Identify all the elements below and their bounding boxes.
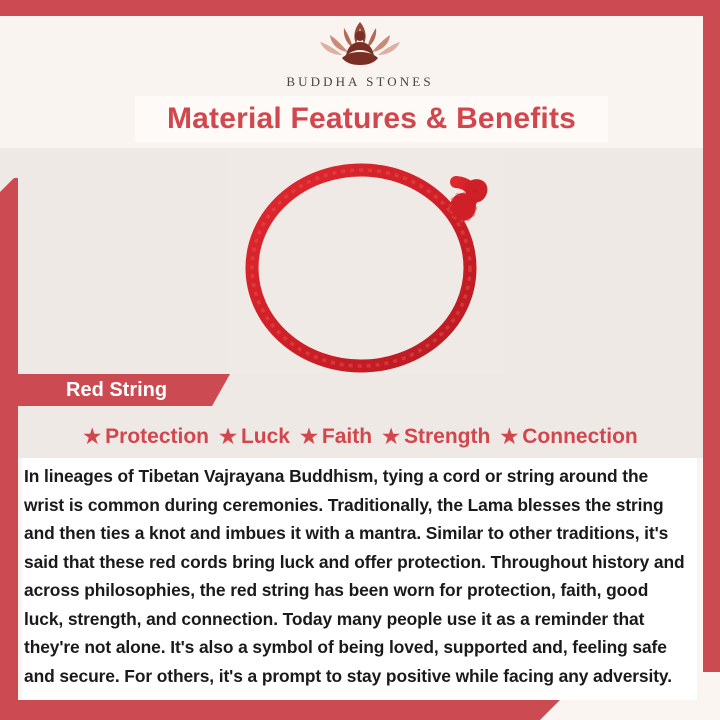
product-label: Red String: [66, 379, 167, 402]
benefit-item-luck: ★ Luck: [216, 425, 293, 449]
benefits-list: ★ Protection ★ Luck ★ Faith ★ Strength ★…: [18, 418, 703, 456]
benefit-item-faith: ★ Faith: [297, 425, 375, 449]
star-icon: ★: [219, 427, 237, 447]
star-icon: ★: [300, 427, 318, 447]
benefit-item-connection: ★ Connection: [497, 425, 640, 449]
brand-logo: BUDDHA STONES: [0, 18, 720, 90]
frame-bottom-bar: [0, 700, 560, 720]
benefit-item-strength: ★ Strength: [379, 425, 493, 449]
benefit-label: Faith: [322, 425, 372, 449]
frame-left-bar: [0, 178, 18, 700]
benefit-label: Protection: [105, 425, 209, 449]
page-title: Material Features & Benefits: [167, 102, 576, 136]
description-text: In lineages of Tibetan Vajrayana Buddhis…: [24, 462, 689, 690]
product-label-banner: Red String: [18, 374, 230, 406]
brand-name: BUDDHA STONES: [286, 74, 433, 90]
star-icon: ★: [83, 427, 101, 447]
benefit-label: Luck: [241, 425, 290, 449]
infographic-page: BUDDHA STONES Material Features & Benefi…: [0, 0, 720, 720]
star-icon: ★: [382, 427, 400, 447]
red-string-bracelet-image: [228, 152, 504, 374]
description-panel: In lineages of Tibetan Vajrayana Buddhis…: [22, 458, 697, 700]
benefit-label: Strength: [404, 425, 490, 449]
benefit-item-protection: ★ Protection: [80, 425, 212, 449]
benefit-label: Connection: [522, 425, 638, 449]
lotus-meditation-icon: [300, 18, 420, 70]
frame-top-bar: [0, 0, 720, 16]
star-icon: ★: [500, 427, 518, 447]
title-banner: Material Features & Benefits: [135, 96, 608, 142]
frame-right-bar: [703, 0, 720, 672]
